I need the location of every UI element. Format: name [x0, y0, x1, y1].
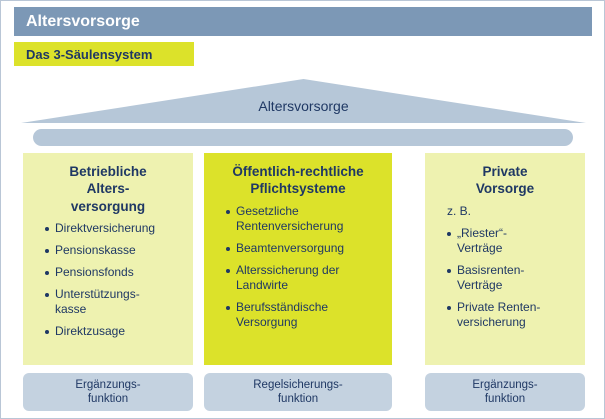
pillar-2-item-3: Alterssicherung derLandwirte: [236, 263, 339, 292]
pillar-3-item-2: Basisrenten-Verträge: [457, 263, 524, 292]
pillar-1-heading-line-1: Betriebliche: [69, 164, 146, 179]
subtitle-banner: Das 3-Säulensystem: [14, 42, 194, 66]
temple-roof: Altersvorsorge: [21, 79, 586, 123]
pillar-oeffentlich-rechtliche-pflichtsysteme: Öffentlich-rechtliche Pflichtsysteme Ges…: [204, 153, 392, 365]
list-item: Beamtenversorgung: [226, 241, 384, 256]
plinth-1-label: Ergänzungs-funktion: [75, 378, 140, 407]
list-item: Pensionsfonds: [45, 265, 185, 280]
plinth-3-label: Ergänzungs-funktion: [472, 378, 537, 407]
pillar-1-list: Direktversicherung Pensionskasse Pension…: [31, 221, 185, 340]
pillar-2-heading: Öffentlich-rechtliche Pflichtsysteme: [212, 163, 384, 198]
pillar-3-heading: Private Vorsorge: [433, 163, 577, 198]
pillar-2-item-2: Beamtenversorgung: [236, 241, 344, 255]
base-ergaenzungsfunktion-right: Ergänzungs-funktion: [425, 373, 585, 411]
list-item: GesetzlicheRentenversicherung: [226, 204, 384, 234]
pillar-1-item-5: Direktzusage: [55, 324, 125, 338]
pillar-2-list: GesetzlicheRentenversicherung Beamtenver…: [212, 204, 384, 331]
pillar-2-heading-line-1: Öffentlich-rechtliche: [232, 164, 363, 179]
pillar-2-item-4: BerufsständischeVersorgung: [236, 300, 328, 329]
pillar-1-heading: Betriebliche Alters- versorgung: [31, 163, 185, 215]
plinth-2-label: Regelsicherungs-funktion: [253, 378, 343, 407]
architrave-bar: [33, 129, 573, 146]
roof-label: Altersvorsorge: [21, 79, 586, 123]
pillar-2-heading-line-2: Pflichtsysteme: [250, 181, 345, 196]
pillar-1-item-4: Unterstützungs-kasse: [55, 287, 140, 316]
pillar-1-heading-line-3: versorgung: [71, 199, 145, 214]
list-item: Private Renten-versicherung: [447, 300, 577, 330]
pillar-1-item-2: Pensionskasse: [55, 243, 136, 257]
list-item: Unterstützungs-kasse: [45, 287, 185, 317]
pillar-3-note: z. B.: [447, 204, 577, 218]
base-ergaenzungsfunktion-left: Ergänzungs-funktion: [23, 373, 193, 411]
pillar-1-heading-line-2: Alters-: [87, 181, 130, 196]
diagram-canvas: Altersvorsorge Das 3-Säulensystem Alters…: [0, 0, 605, 419]
list-item: Direktversicherung: [45, 221, 185, 236]
list-item: Pensionskasse: [45, 243, 185, 258]
pillar-3-heading-line-2: Vorsorge: [476, 181, 534, 196]
pillar-1-item-3: Pensionsfonds: [55, 265, 134, 279]
pillar-3-heading-line-1: Private: [482, 164, 527, 179]
pillar-3-item-1: „Riester“-Verträge: [457, 226, 507, 255]
list-item: „Riester“-Verträge: [447, 226, 577, 256]
pillar-betriebliche-altersversorgung: Betriebliche Alters- versorgung Direktve…: [23, 153, 193, 365]
base-regelsicherungsfunktion: Regelsicherungs-funktion: [204, 373, 392, 411]
list-item: Basisrenten-Verträge: [447, 263, 577, 293]
page-title: Altersvorsorge: [14, 7, 592, 36]
list-item: BerufsständischeVersorgung: [226, 300, 384, 330]
pillar-1-item-1: Direktversicherung: [55, 221, 155, 235]
pillar-3-item-3: Private Renten-versicherung: [457, 300, 540, 329]
list-item: Direktzusage: [45, 324, 185, 339]
pillar-3-list: „Riester“-Verträge Basisrenten-Verträge …: [433, 226, 577, 331]
pillar-2-item-1: GesetzlicheRentenversicherung: [236, 204, 343, 233]
pillar-private-vorsorge: Private Vorsorge z. B. „Riester“-Verträg…: [425, 153, 585, 365]
list-item: Alterssicherung derLandwirte: [226, 263, 384, 293]
